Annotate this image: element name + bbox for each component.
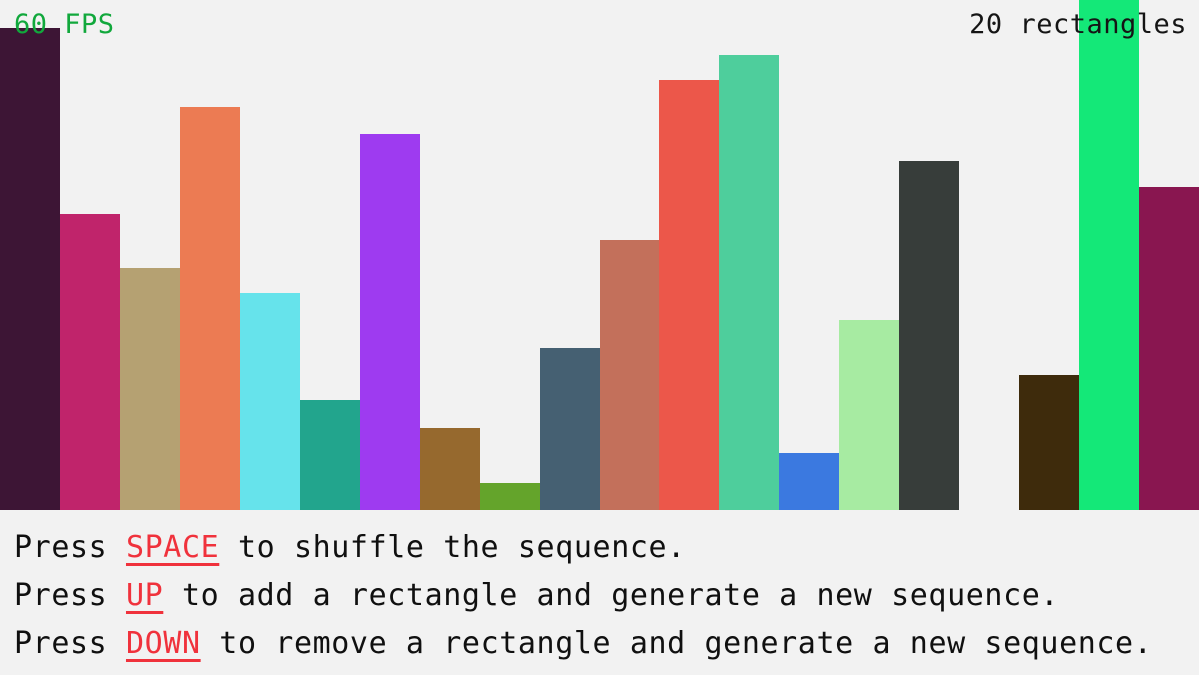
instruction-suffix: to shuffle the sequence. [219,530,686,565]
instructions-panel: Press SPACE to shuffle the sequence.Pres… [0,510,1199,675]
instruction-key-up[interactable]: UP [126,578,163,613]
chart-bar [420,428,480,510]
rectangle-chart [0,0,1199,510]
chart-bar [899,161,959,510]
instruction-prefix: Press [14,578,126,613]
chart-bar [1139,187,1199,510]
instruction-line: Press UP to add a rectangle and generate… [14,572,1199,620]
chart-bar [779,453,839,510]
chart-bar [360,134,420,510]
chart-bar [300,400,360,510]
instruction-key-space[interactable]: SPACE [126,530,219,565]
chart-bar [719,55,779,510]
instruction-suffix: to add a rectangle and generate a new se… [163,578,1059,613]
chart-bar [0,28,60,510]
instruction-suffix: to remove a rectangle and generate a new… [201,626,1153,661]
fps-counter: 60 FPS [14,11,115,38]
instruction-prefix: Press [14,530,126,565]
chart-bar [180,107,240,510]
chart-bar [60,214,120,510]
chart-bar [240,293,300,510]
chart-bar [1019,375,1079,510]
chart-bar [1079,0,1139,510]
chart-bar [600,240,660,510]
instruction-key-down[interactable]: DOWN [126,626,201,661]
chart-bar [120,268,180,510]
rectangle-count-label: 20 rectangles [969,11,1187,38]
instruction-line: Press DOWN to remove a rectangle and gen… [14,620,1199,668]
chart-bar [480,483,540,510]
instruction-line: Press SPACE to shuffle the sequence. [14,524,1199,572]
chart-bar [839,320,899,510]
chart-bar [540,348,600,510]
chart-bar [659,80,719,510]
instruction-prefix: Press [14,626,126,661]
app-root: 60 FPS 20 rectangles Press SPACE to shuf… [0,0,1199,675]
